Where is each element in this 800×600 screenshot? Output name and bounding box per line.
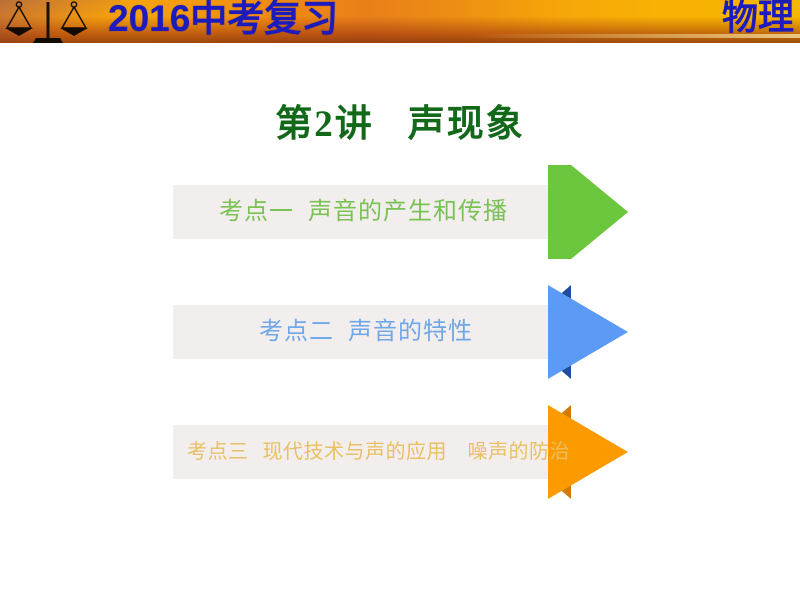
section-label-1: 考点一声音的产生和传播 [219,185,508,239]
section-text-2: 声音的特性 [348,318,473,345]
section-label-2: 考点二声音的特性 [259,305,473,359]
section-item-3[interactable]: 考点三现代技术与声的应用 噪声的防治 [173,405,628,499]
banner-title: 2016中考复习 [108,0,338,40]
section-text-3: 现代技术与声的应用 噪声的防治 [263,441,571,463]
section-text-1: 声音的产生和传播 [308,198,508,225]
section-index-2: 考点二 [259,318,334,345]
section-index-3: 考点三 [187,441,249,463]
section-index-1: 考点一 [219,198,294,225]
section-item-1[interactable]: 考点一声音的产生和传播 [173,165,628,259]
banner-subject: 物理 [722,0,794,39]
header-banner: 2016中考复习 物理 [0,0,800,43]
section-item-2[interactable]: 考点二声音的特性 [173,285,628,379]
balance-scale-icon [2,0,98,43]
page-title: 第2讲声现象 [0,93,800,147]
page-title-main: 声现象 [408,104,525,145]
page-title-prefix: 第2讲 [275,104,374,145]
section-label-3: 考点三现代技术与声的应用 噪声的防治 [187,425,570,479]
